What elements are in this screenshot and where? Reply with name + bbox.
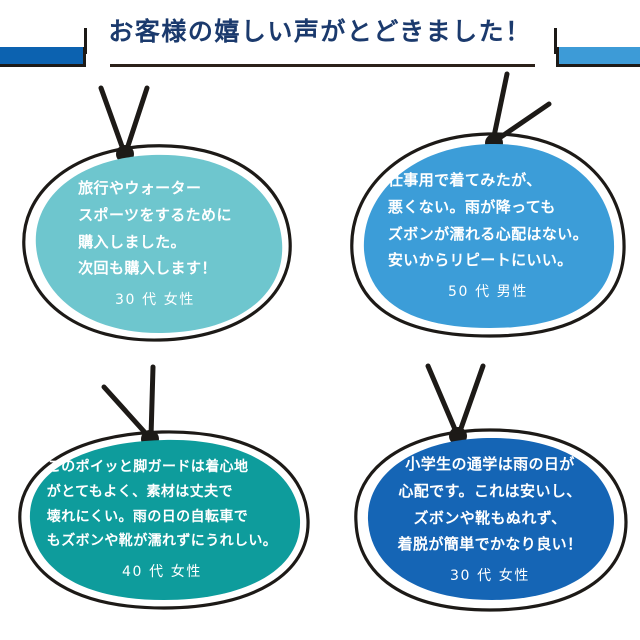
testimonial-line: 購入しました。 [78,229,186,256]
testimonial-body-top-right: 仕事用で着てみたが、 悪くない。雨が降っても ズボンが濡れる心配はない。 安いか… [344,126,632,342]
testimonial-line: 悪くない。雨が降っても [388,194,556,221]
testimonial-lines-bottom-left: このポイッと脚ガードは着心地 がとてもよく、素材は丈夫で 壊れにくい。雨の日の自… [47,455,277,555]
testimonial-age-top-right: 50 代 男性 [448,281,528,301]
testimonial-line: 仕事用で着てみたが、 [388,167,542,194]
testimonial-body-bottom-left: このポイッと脚ガードは着心地 がとてもよく、素材は丈夫で 壊れにくい。雨の日の自… [12,420,312,616]
header-bar-right [556,47,640,67]
testimonial-body-bottom-right: 小学生の通学は雨の日が 心配です。これは安いし、 ズボンや靴もぬれず、 着脱が簡… [348,418,632,618]
testimonial-card-bottom-right[interactable]: 小学生の通学は雨の日が 心配です。これは安いし、 ズボンや靴もぬれず、 着脱が簡… [348,418,632,618]
testimonial-card-top-right[interactable]: 仕事用で着てみたが、 悪くない。雨が降っても ズボンが濡れる心配はない。 安いか… [344,126,632,342]
header-bar-left [0,47,86,67]
testimonial-line: 着脱が簡単でかなり良い！ [398,531,583,558]
header-rule [110,64,535,67]
testimonial-line: 安いからリピートにいい。 [388,247,573,274]
testimonial-lines-bottom-right: 小学生の通学は雨の日が 心配です。これは安いし、 ズボンや靴もぬれず、 着脱が簡… [398,451,583,558]
testimonial-body-top-left: 旅行やウォーター スポーツをするために 購入しました。 次回も購入します！ 30… [14,136,296,348]
testimonial-age-bottom-left: 40 代 女性 [122,561,202,581]
testimonial-line: 次回も購入します！ [78,255,217,282]
testimonial-line: 心配です。これは安いし、 [398,478,581,505]
testimonial-line: 壊れにくい。雨の日の自転車で [47,505,248,530]
testimonial-line: 旅行やウォーター [78,175,201,202]
page-title: お客様の嬉しい声がとどきました！ [0,18,640,46]
testimonial-card-top-left[interactable]: 旅行やウォーター スポーツをするために 購入しました。 次回も購入します！ 30… [14,136,296,348]
testimonial-line: 小学生の通学は雨の日が [405,451,574,478]
testimonial-line: ズボンや靴もぬれず、 [414,505,567,532]
testimonial-age-bottom-right: 30 代 女性 [450,565,530,585]
testimonial-card-bottom-left[interactable]: このポイッと脚ガードは着心地 がとてもよく、素材は丈夫で 壊れにくい。雨の日の自… [12,420,312,616]
testimonial-line: ズボンが濡れる心配はない。 [388,221,588,248]
testimonial-lines-top-right: 仕事用で着てみたが、 悪くない。雨が降っても ズボンが濡れる心配はない。 安いか… [388,167,588,274]
testimonial-line: がとてもよく、素材は丈夫で [47,480,233,505]
testimonial-line: スポーツをするために [78,202,232,229]
testimonial-line: もズボンや靴が濡れずにうれしい。 [47,529,277,554]
testimonial-poster: お客様の嬉しい声がとどきました！ [0,0,640,640]
testimonial-age-top-left: 30 代 女性 [115,289,195,309]
testimonial-lines-top-left: 旅行やウォーター スポーツをするために 購入しました。 次回も購入します！ [78,175,232,282]
testimonial-line: このポイッと脚ガードは着心地 [47,455,249,480]
poster-header: お客様の嬉しい声がとどきました！ [0,0,640,90]
